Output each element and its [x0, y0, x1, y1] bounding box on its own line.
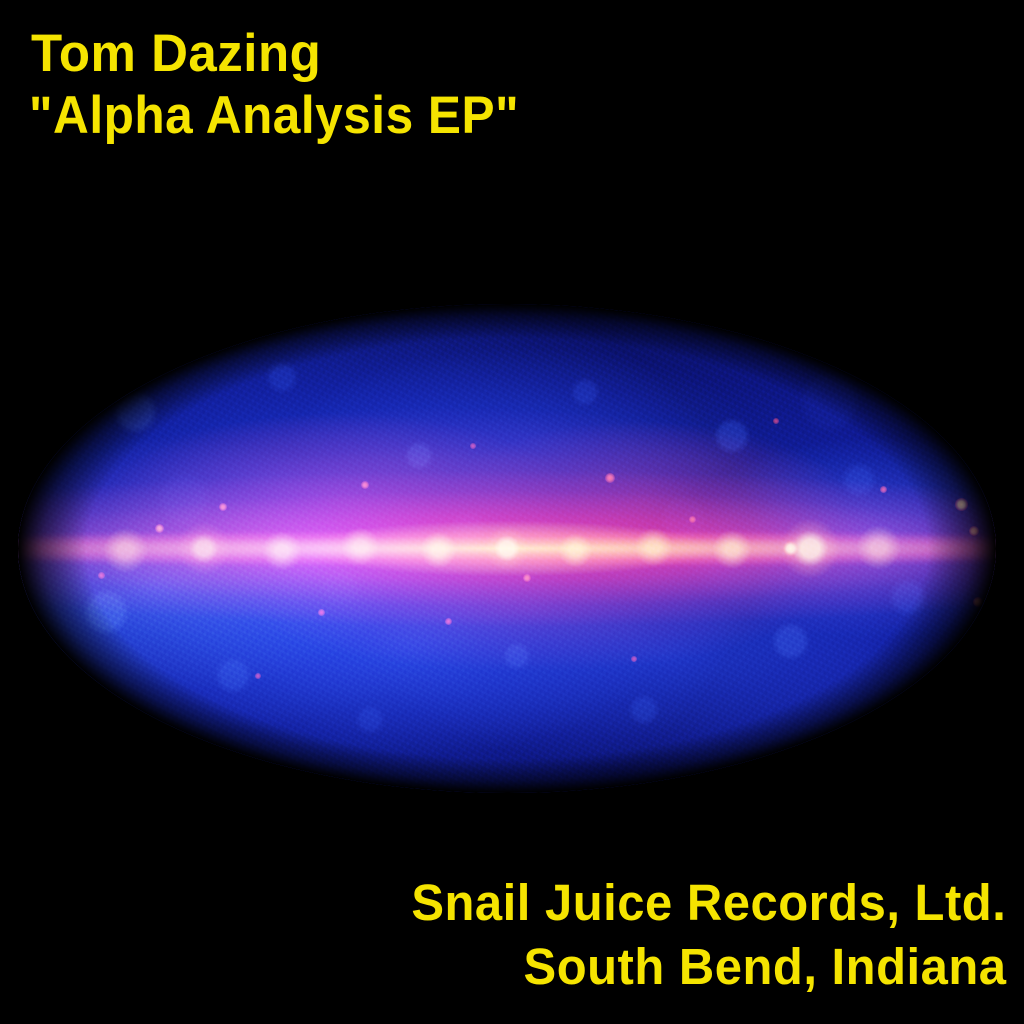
all-sky-map-artwork [18, 304, 996, 793]
mollweide-ellipse [18, 304, 996, 793]
album-cover: Tom Dazing "Alpha Analysis EP" Snail Jui… [0, 0, 1024, 1024]
album-title: "Alpha Analysis EP" [29, 89, 519, 142]
record-label-name: Snail Juice Records, Ltd. [411, 878, 1006, 929]
ellipse-edge-feather [18, 304, 996, 793]
artist-name: Tom Dazing [31, 27, 321, 80]
record-label-location: South Bend, Indiana [523, 942, 1006, 993]
